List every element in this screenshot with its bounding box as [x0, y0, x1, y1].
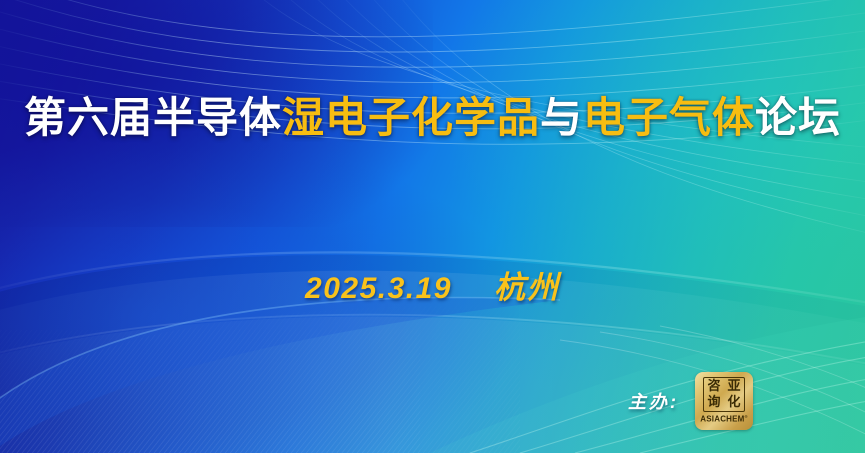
- logo-char-3: 询: [704, 395, 724, 412]
- logo-trademark-symbol: ®: [745, 414, 748, 419]
- event-date: 2025.3.19: [305, 272, 452, 306]
- logo-brand-text: ASIACHEM: [700, 415, 744, 424]
- event-meta: 2025.3.19杭州: [0, 262, 865, 307]
- title-segment-3: 与: [540, 94, 583, 141]
- logo-char-4: 化: [724, 395, 744, 412]
- title-segment-4: 电子气体: [583, 94, 755, 141]
- organizer-label: 主办:: [628, 388, 679, 414]
- organizer-row: 主办: 咨 亚 询 化 ASIACHEM®: [628, 372, 753, 430]
- page-title: 第六届半导体湿电子化学品与电子气体论坛: [0, 94, 865, 141]
- logo-brand-latin: ASIACHEM®: [700, 414, 747, 424]
- title-segment-5: 论坛: [755, 94, 841, 141]
- logo-char-2: 亚: [724, 378, 744, 395]
- logo-char-1: 咨: [704, 378, 724, 395]
- conference-poster: 第六届半导体湿电子化学品与电子气体论坛 2025.3.19杭州 主办: 咨 亚 …: [0, 0, 865, 453]
- asiachem-logo: 咨 亚 询 化 ASIACHEM®: [695, 372, 753, 430]
- title-segment-2: 湿电子化学品: [282, 94, 540, 141]
- title-segment-1: 第六届半导体: [24, 94, 282, 141]
- logo-character-box: 咨 亚 询 化: [703, 377, 745, 412]
- event-city: 杭州: [494, 262, 560, 307]
